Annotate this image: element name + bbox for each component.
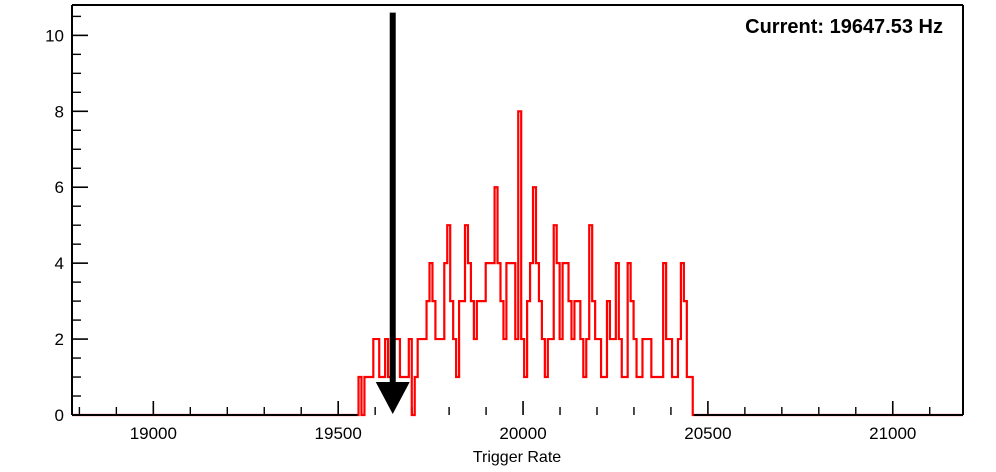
y-axis-ticks [72,16,88,415]
x-axis-tick-labels: 1900019500200002050021000 [130,424,917,443]
y-axis-tick-labels: 0246810 [45,26,64,425]
current-rate-annotation: Current: 19647.53 Hz [745,16,943,38]
histogram-series [72,111,963,415]
trigger-rate-histogram: 0246810 1900019500200002050021000 Trigge… [0,0,996,472]
y-tick-label: 2 [55,330,64,349]
x-axis-ticks [79,401,929,415]
x-tick-label: 19500 [315,424,362,443]
current-rate-marker [376,13,410,414]
histogram-outline [72,111,963,415]
y-tick-label: 10 [45,26,64,45]
marker-arrowhead [376,382,410,414]
x-tick-label: 21000 [869,424,916,443]
x-tick-label: 20000 [499,424,546,443]
y-tick-label: 6 [55,178,64,197]
x-axis-title: Trigger Rate [473,449,561,466]
chart-canvas: 0246810 1900019500200002050021000 Trigge… [0,0,996,472]
y-tick-label: 4 [55,254,64,273]
y-tick-label: 0 [55,406,64,425]
y-tick-label: 8 [55,102,64,121]
x-tick-label: 19000 [130,424,177,443]
x-tick-label: 20500 [684,424,731,443]
